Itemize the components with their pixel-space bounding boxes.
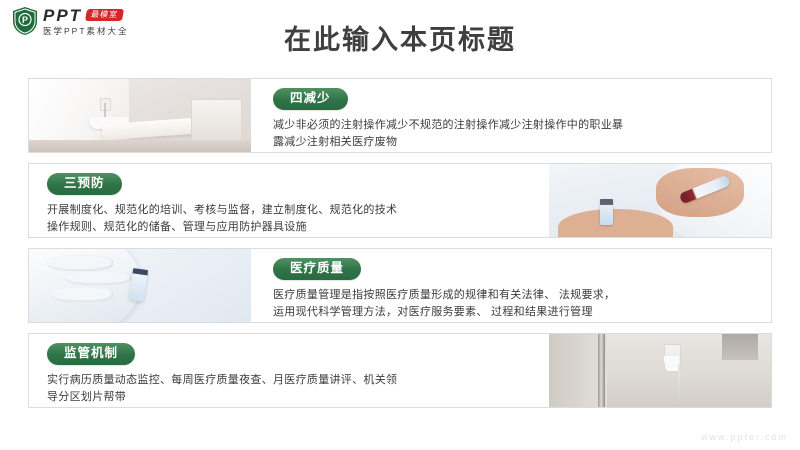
row-text-line: 开展制度化、规范化的培训、考核与监督，建立制度化、规范化的技术 xyxy=(47,202,549,219)
row-text-line: 实行病历质量动态监控、每周医疗质量夜查、月医疗质量讲评、机关领 xyxy=(47,372,549,389)
content-rows: 四减少 减少非必须的注射操作减少不规范的注射操作减少注射操作中的职业暴 露减少注… xyxy=(28,78,772,418)
content-row[interactable]: 三预防 开展制度化、规范化的培训、考核与监督，建立制度化、规范化的技术 操作规则… xyxy=(28,163,772,238)
row-text-line: 医疗质量管理是指按照医疗质量形成的规律和有关法律、 法规要求， xyxy=(273,287,771,304)
gloved-hand-vial-photo xyxy=(29,249,251,322)
vial-and-tube-photo xyxy=(549,164,771,237)
content-row[interactable]: 医疗质量 医疗质量管理是指按照医疗质量形成的规律和有关法律、 法规要求， 运用现… xyxy=(28,248,772,323)
content-row[interactable]: 监管机制 实行病历质量动态监控、每周医疗质量夜查、月医疗质量讲评、机关领 导分区… xyxy=(28,333,772,408)
content-row[interactable]: 四减少 减少非必须的注射操作减少不规范的注射操作减少注射操作中的职业暴 露减少注… xyxy=(28,78,772,153)
row-body: 三预防 开展制度化、规范化的培训、考核与监督，建立制度化、规范化的技术 操作规则… xyxy=(29,164,549,237)
iv-drip-photo xyxy=(549,334,771,407)
row-body: 监管机制 实行病历质量动态监控、每周医疗质量夜查、月医疗质量讲评、机关领 导分区… xyxy=(29,334,549,407)
row-description: 开展制度化、规范化的培训、考核与监督，建立制度化、规范化的技术 操作规则、规范化… xyxy=(47,202,549,236)
row-text-line: 运用现代科学管理方法，对医疗服务要素、 过程和结果进行管理 xyxy=(273,304,771,321)
row-description: 医疗质量管理是指按照医疗质量形成的规律和有关法律、 法规要求， 运用现代科学管理… xyxy=(273,287,771,321)
row-text-line: 减少非必须的注射操作减少不规范的注射操作减少注射操作中的职业暴 xyxy=(273,117,771,134)
site-watermark: www.ppter.com xyxy=(701,432,788,442)
row-body: 医疗质量 医疗质量管理是指按照医疗质量形成的规律和有关法律、 法规要求， 运用现… xyxy=(251,249,771,322)
row-pill-label: 医疗质量 xyxy=(273,258,361,280)
row-description: 实行病历质量动态监控、每周医疗质量夜查、月医疗质量讲评、机关领 导分区划片帮带 xyxy=(47,372,549,406)
exam-room-photo xyxy=(29,79,251,152)
row-text-line: 导分区划片帮带 xyxy=(47,389,549,406)
row-pill-label: 三预防 xyxy=(47,173,122,195)
row-body: 四减少 减少非必须的注射操作减少不规范的注射操作减少注射操作中的职业暴 露减少注… xyxy=(251,79,771,152)
row-text-line: 露减少注射相关医疗废物 xyxy=(273,134,771,151)
row-pill-label: 四减少 xyxy=(273,88,348,110)
row-description: 减少非必须的注射操作减少不规范的注射操作减少注射操作中的职业暴 露减少注射相关医… xyxy=(273,117,771,151)
page-title: 在此输入本页标题 xyxy=(0,18,800,57)
row-pill-label: 监管机制 xyxy=(47,343,135,365)
row-text-line: 操作规则、规范化的储备、管理与应用防护器具设施 xyxy=(47,219,549,236)
